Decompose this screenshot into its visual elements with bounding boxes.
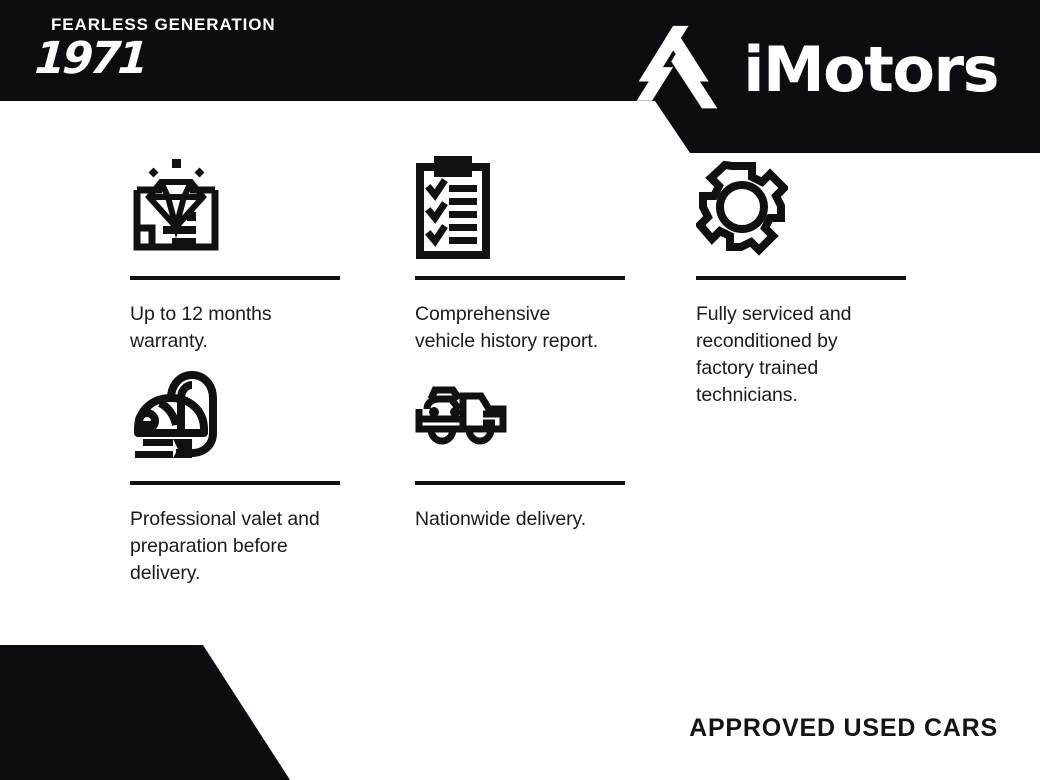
- promo-graphic: FEARLESS GENERATION 1971 iMotors: [0, 0, 1040, 780]
- imotors-arrow-mark-icon: [629, 22, 725, 118]
- feature-divider: [415, 276, 625, 280]
- feature-divider: [415, 481, 625, 485]
- header-tagline-block: FEARLESS GENERATION 1971: [35, 16, 276, 81]
- clipboard-checklist-icon: [415, 153, 627, 263]
- year-1971-mark: 1971: [33, 37, 277, 81]
- approved-used-cars-tagline: APPROVED USED CARS: [689, 714, 998, 743]
- feature-grid: Up to 12 months warranty.: [0, 153, 1040, 563]
- feature-label: Nationwide delivery.: [415, 506, 615, 533]
- footer-band: [0, 645, 300, 780]
- fearless-generation-tagline: FEARLESS GENERATION: [51, 16, 276, 33]
- imotors-wordmark: iMotors: [743, 39, 998, 101]
- feature-divider: [696, 276, 906, 280]
- feature-row-top: Up to 12 months warranty.: [0, 153, 1040, 358]
- feature-divider: [130, 276, 340, 280]
- feature-nationwide-delivery: Nationwide delivery.: [415, 358, 627, 533]
- feature-label: Comprehensive vehicle history report.: [415, 301, 615, 355]
- vacuum-cleaner-icon: [130, 358, 342, 468]
- feature-label: Professional valet and preparation befor…: [130, 506, 330, 587]
- feature-divider: [130, 481, 340, 485]
- feature-label: Up to 12 months warranty.: [130, 301, 330, 355]
- feature-valet: Professional valet and preparation befor…: [130, 358, 342, 587]
- feature-row-bottom: Professional valet and preparation befor…: [0, 358, 1040, 563]
- feature-history-report: Comprehensive vehicle history report.: [415, 153, 627, 355]
- footer-imotors-arrow-mark-icon: [72, 668, 146, 760]
- brand-lockup: iMotors: [629, 22, 998, 118]
- gear-cog-icon: [696, 153, 908, 263]
- feature-warranty: Up to 12 months warranty.: [130, 153, 342, 355]
- car-transporter-truck-icon: [415, 358, 627, 468]
- warranty-certificate-diamond-icon: [130, 153, 342, 263]
